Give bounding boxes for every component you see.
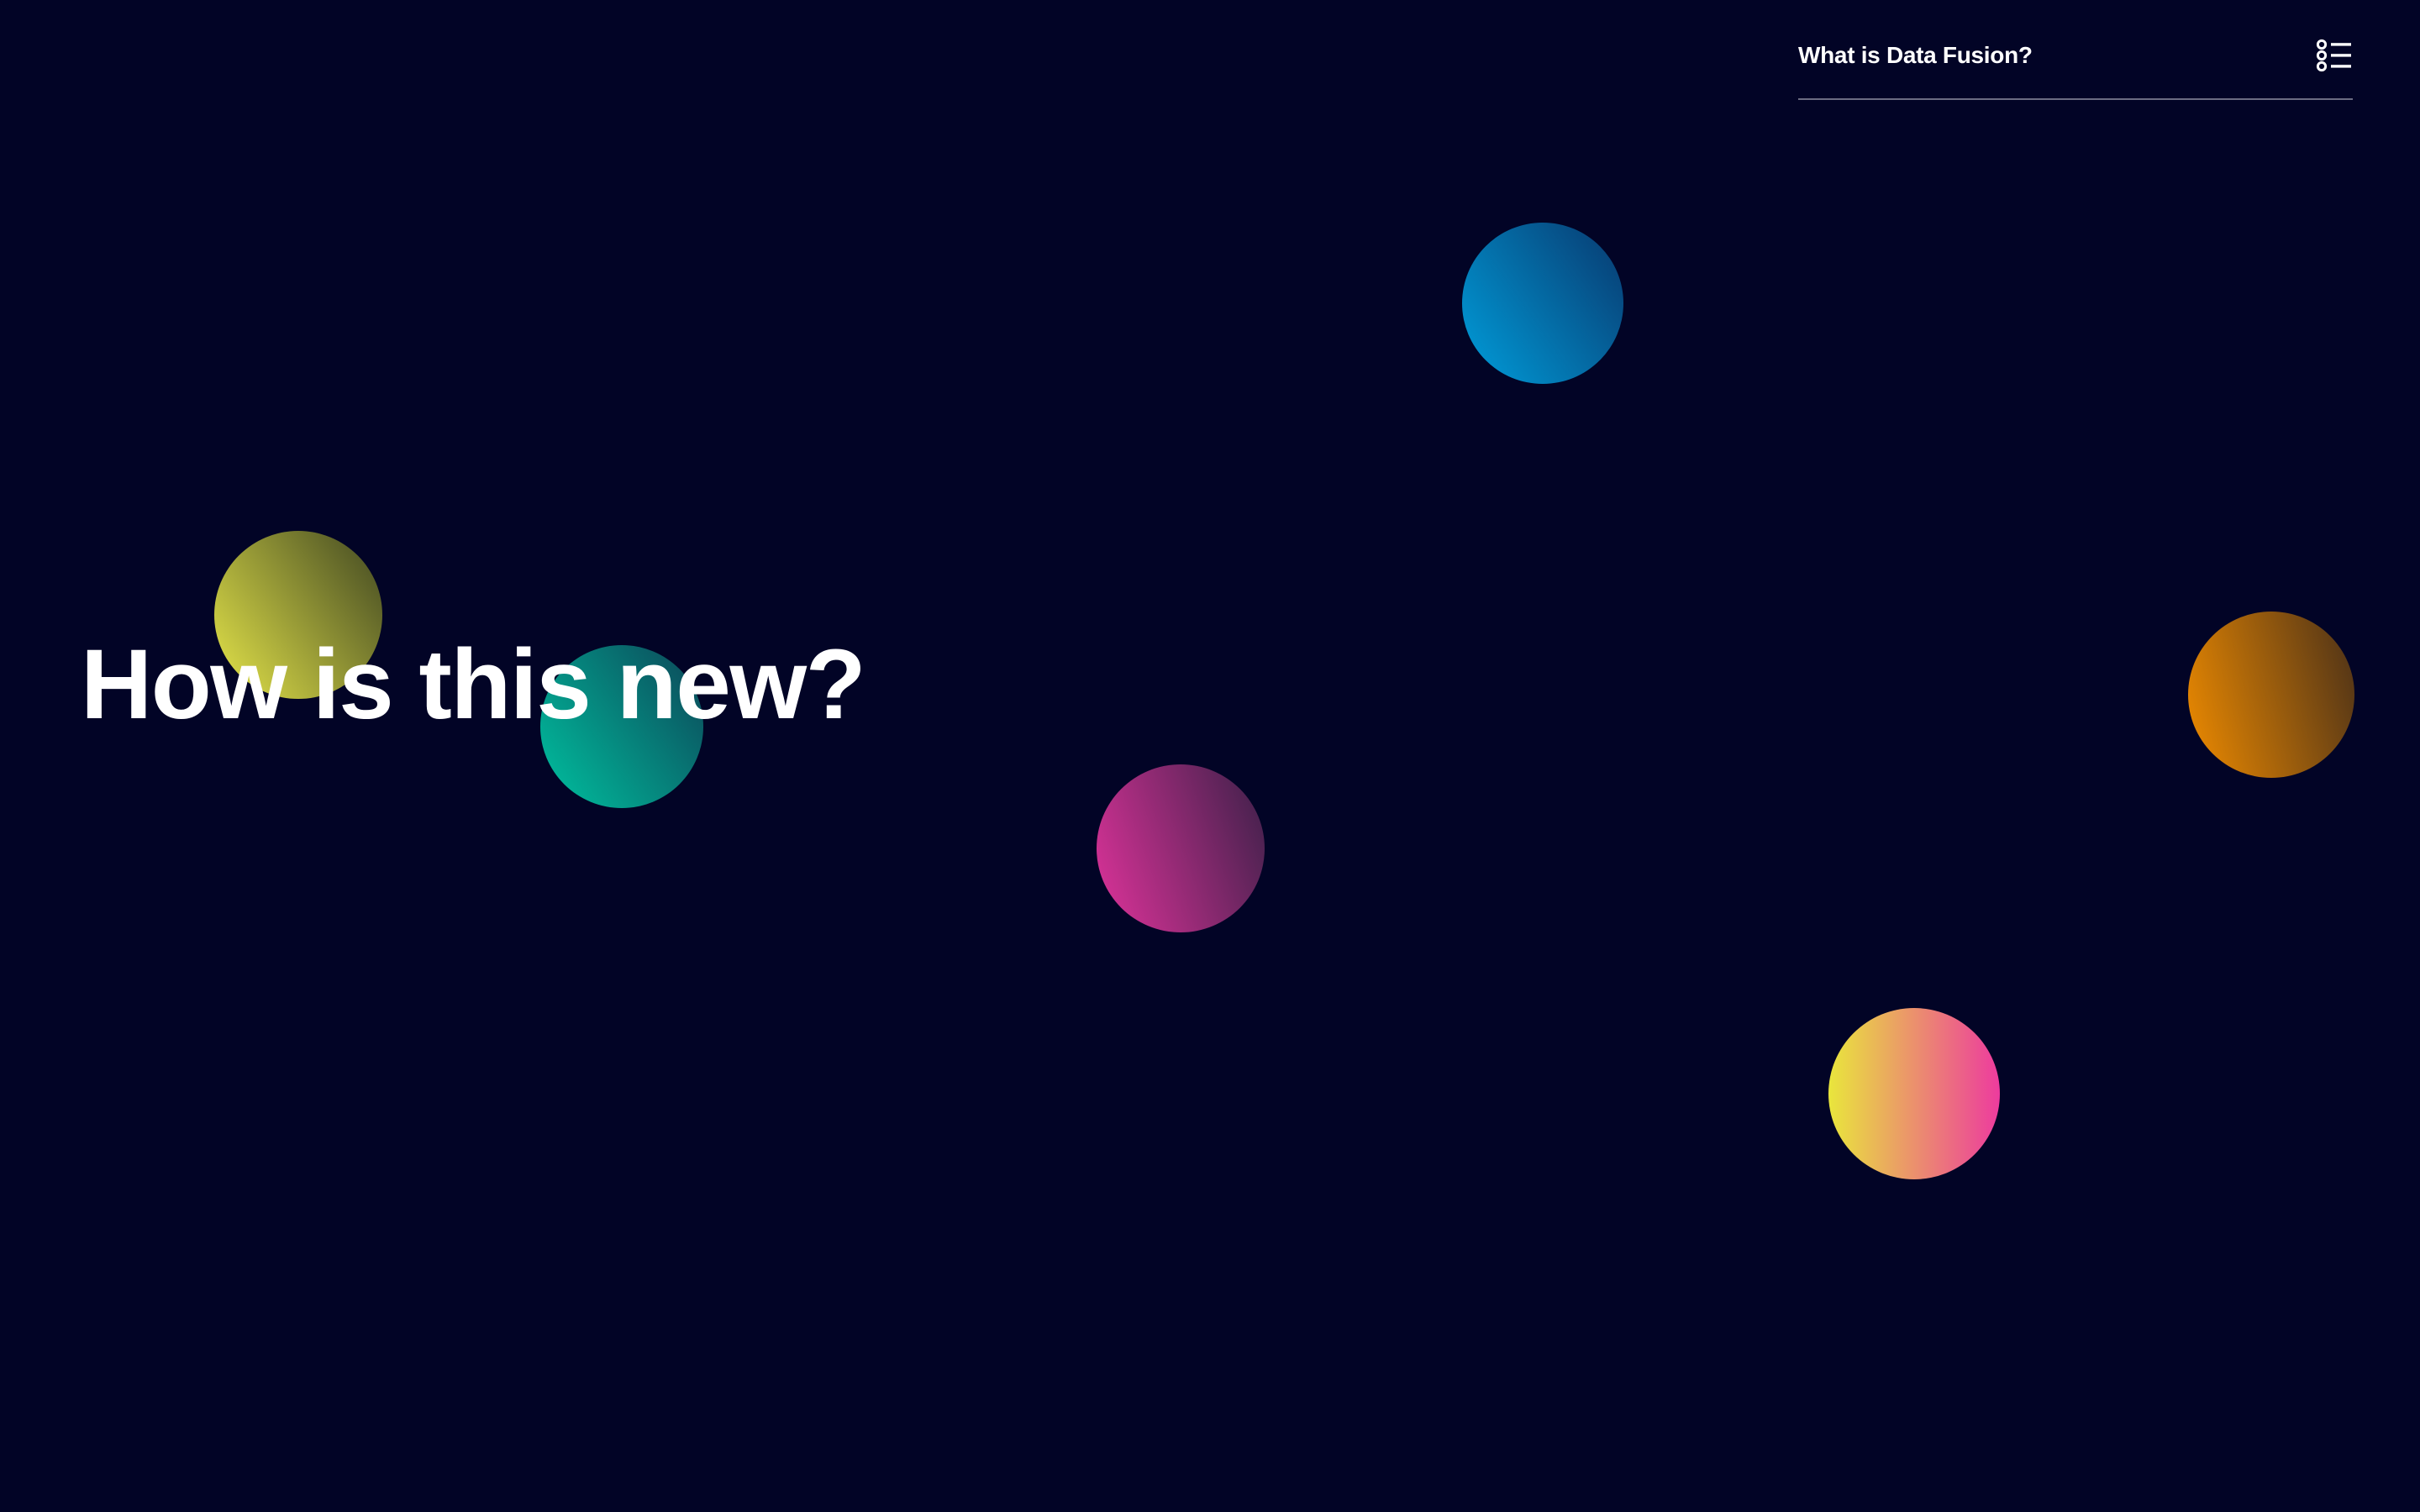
header-bar: What is Data Fusion? xyxy=(1798,35,2353,100)
decorative-circles xyxy=(0,0,2420,1512)
header-divider xyxy=(1798,98,2353,100)
list-icon[interactable] xyxy=(2316,39,2353,72)
page-title: How is this new? xyxy=(81,635,865,734)
magenta-circle xyxy=(1097,764,1265,932)
page-title-block: How is this new? xyxy=(81,635,865,734)
agenda-menu-button[interactable] xyxy=(2316,39,2353,72)
yellow-pink-circle xyxy=(1828,1008,2000,1179)
slide-canvas: How is this new? What is Data Fusion? xyxy=(0,0,2420,1512)
header-title: What is Data Fusion? xyxy=(1798,42,2033,69)
header-row: What is Data Fusion? xyxy=(1798,35,2353,76)
blue-circle xyxy=(1462,223,1623,384)
orange-circle xyxy=(2188,612,2354,778)
